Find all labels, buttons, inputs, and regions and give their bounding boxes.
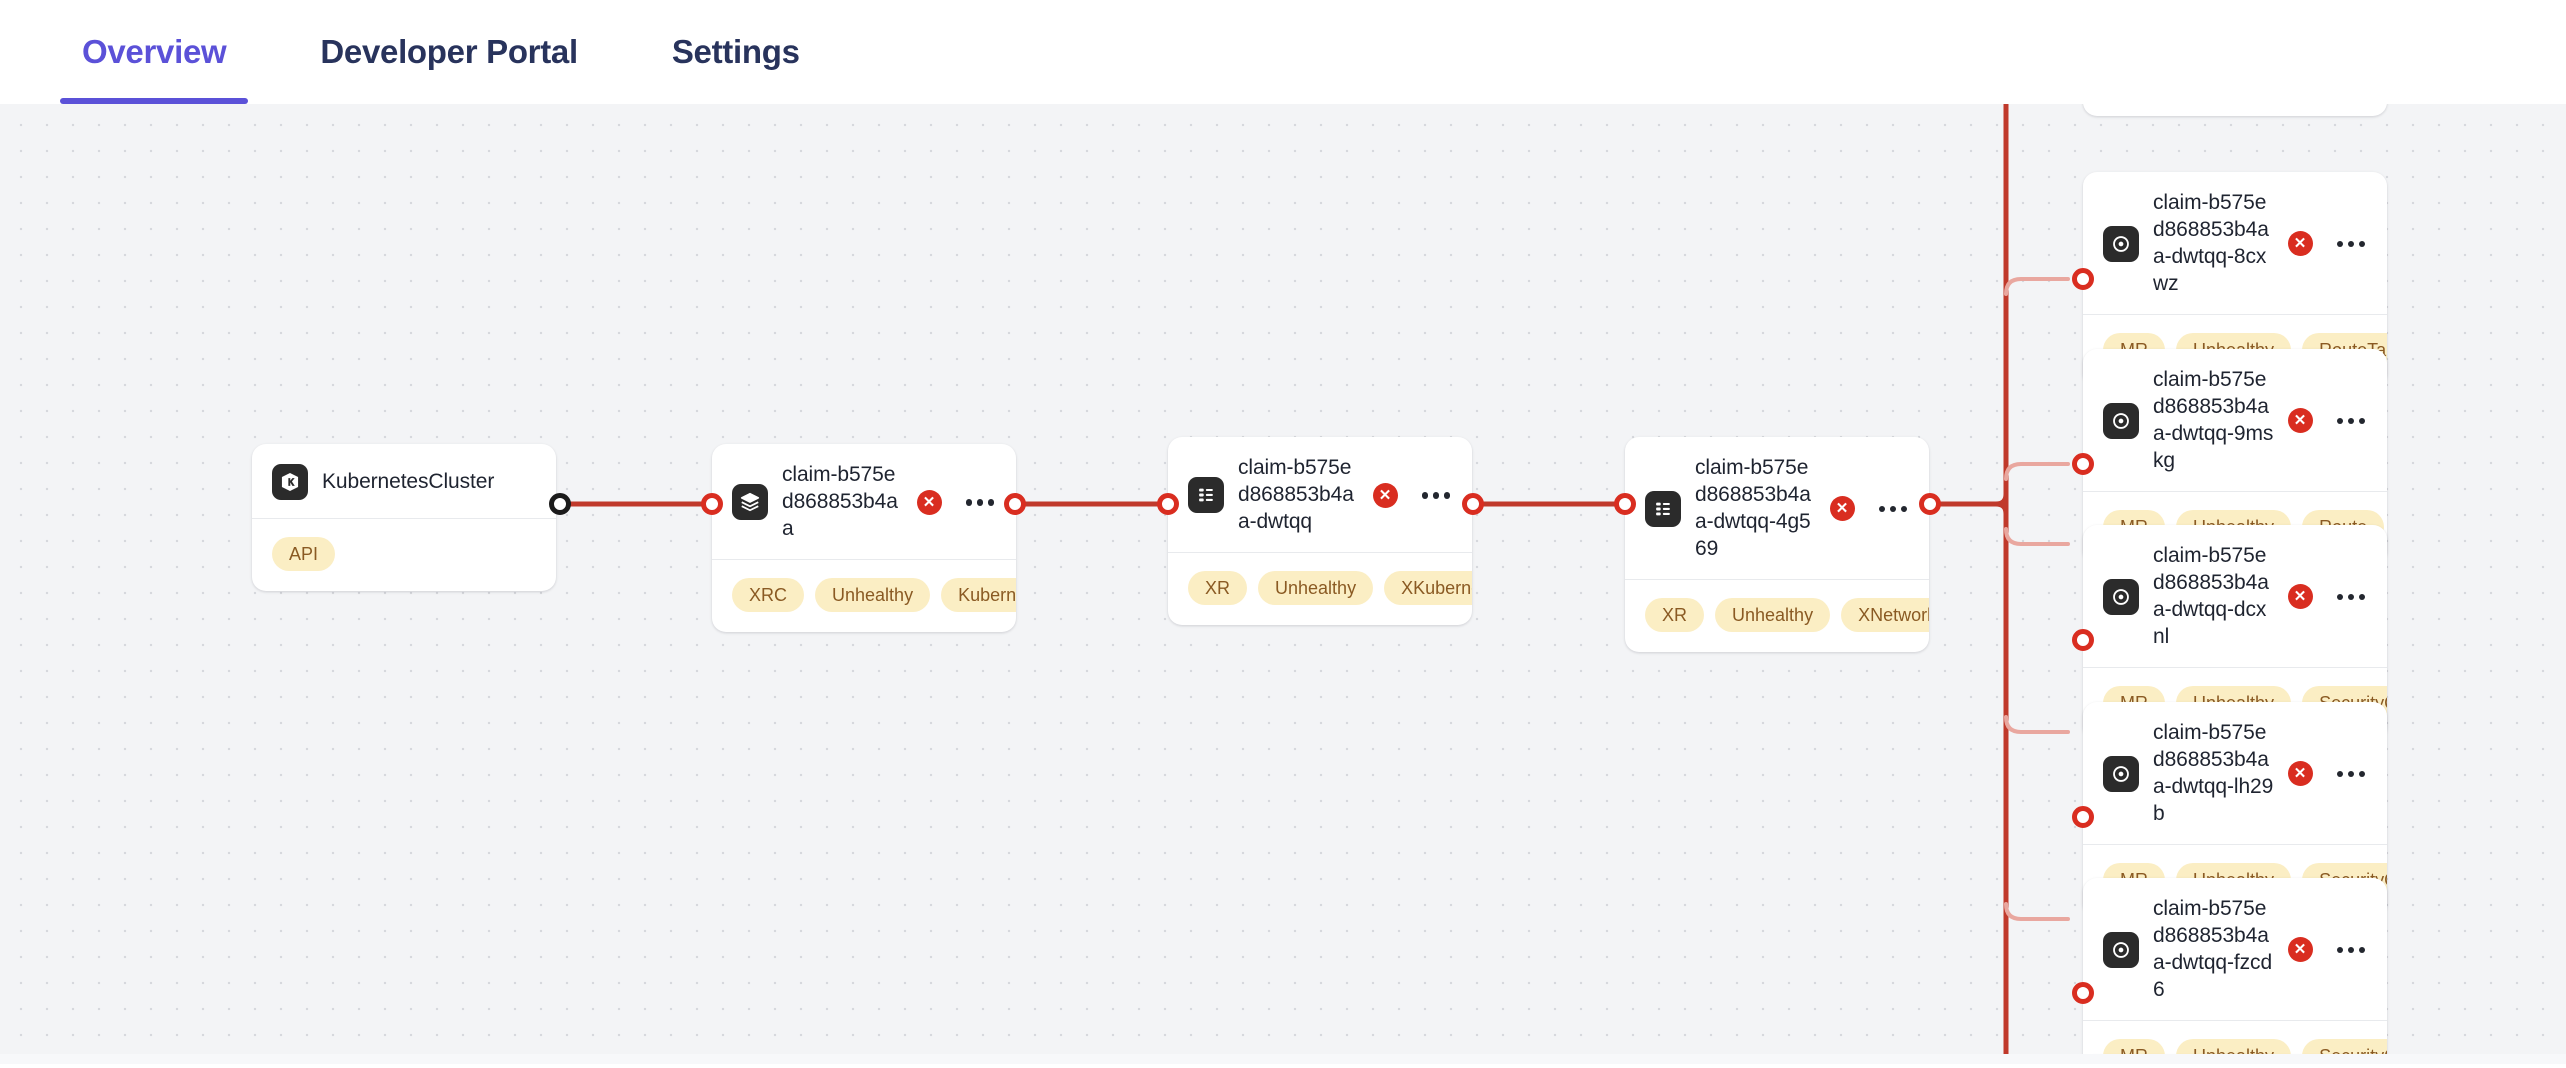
node-title: claim-b575ed868853b4aa-dwtqq-fzcd6 xyxy=(2153,896,2274,1004)
node-mr-fzcd6[interactable]: claim-b575ed868853b4aa-dwtqq-fzcd6 ✕ MR … xyxy=(2083,878,2387,1064)
graph-canvas[interactable]: KubernetesCluster API claim-b575ed868853… xyxy=(0,104,2566,1064)
status-badge-error[interactable]: ✕ xyxy=(1830,496,1855,521)
node-title: claim-b575ed868853b4aa-dwtqq-dcxnl xyxy=(2153,543,2274,651)
tab-settings-label: Settings xyxy=(672,33,800,71)
tag-kind: MR xyxy=(2103,1039,2165,1065)
handle-target-mr-lh29b[interactable] xyxy=(2072,806,2094,828)
target-icon xyxy=(2103,579,2139,615)
handle-target-mr-8cxwz[interactable] xyxy=(2072,268,2094,290)
tag-kind: XR xyxy=(1188,571,1247,605)
layers-icon xyxy=(732,484,768,520)
kubernetes-icon xyxy=(272,464,308,500)
tab-overview-label: Overview xyxy=(82,33,226,71)
tag-resource: XKubernetesCluster xyxy=(1384,571,1472,605)
node-tags: XR Unhealthy XNetwork xyxy=(1625,580,1929,652)
node-menu-button[interactable] xyxy=(2327,941,2368,960)
node-kubernetescluster[interactable]: KubernetesCluster API xyxy=(252,444,556,591)
handle-target-mr-9mskg[interactable] xyxy=(2072,453,2094,475)
tag-kind: API xyxy=(272,537,335,571)
tag-resource: SecurityGroup xyxy=(2302,1039,2387,1065)
node-claim-dwtqq-4g569[interactable]: claim-b575ed868853b4aa-dwtqq-4g569 ✕ XR … xyxy=(1625,437,1929,652)
node-header: claim-b575ed868853b4aa-dwtqq-fzcd6 ✕ xyxy=(2083,878,2387,1020)
node-tags: API xyxy=(252,519,556,591)
node-header: KubernetesCluster xyxy=(252,444,556,518)
node-header: claim-b575ed868853b4aa-dwtqq-9mskg ✕ xyxy=(2083,349,2387,491)
node-title: claim-b575ed868853b4aa xyxy=(782,462,903,543)
handle-target-claim-dwtqq-xr[interactable] xyxy=(1157,493,1179,515)
status-badge-error[interactable]: ✕ xyxy=(917,490,942,515)
node-menu-button[interactable] xyxy=(2327,235,2368,254)
node-title: KubernetesCluster xyxy=(322,469,536,496)
target-icon xyxy=(2103,756,2139,792)
handle-source-claim-xrc[interactable] xyxy=(1004,493,1026,515)
node-header xyxy=(2083,1055,2387,1064)
node-header: claim-b575ed868853b4aa-dwtqq-dcxnl ✕ xyxy=(2083,525,2387,667)
handle-target-mr-fzcd6[interactable] xyxy=(2072,982,2094,1004)
node-title: claim-b575ed868853b4aa-dwtqq xyxy=(1238,455,1359,536)
node-title: claim-b575ed868853b4aa-dwtqq-8cxwz xyxy=(2153,190,2274,298)
tab-settings[interactable]: Settings xyxy=(650,0,822,104)
target-icon xyxy=(2103,226,2139,262)
handle-target-claim-dwtqq-4g569[interactable] xyxy=(1614,493,1636,515)
node-tags: XRC Unhealthy KubernetesCluster xyxy=(712,560,1016,632)
node-claim-dwtqq-xr[interactable]: claim-b575ed868853b4aa-dwtqq ✕ XR Unheal… xyxy=(1168,437,1472,625)
node-tags: MR Unhealthy SecurityGroup xyxy=(2083,1021,2387,1065)
tag-kind: XRC xyxy=(732,578,804,612)
node-menu-button[interactable] xyxy=(1412,486,1453,505)
node-header: claim-b575ed868853b4aa-dwtqq-lh29b ✕ xyxy=(2083,702,2387,844)
tag-health: Unhealthy xyxy=(1258,571,1373,605)
list-icon xyxy=(1188,477,1224,513)
node-claim-xrc[interactable]: claim-b575ed868853b4aa ✕ XRC Unhealthy K… xyxy=(712,444,1016,632)
node-title: claim-b575ed868853b4aa-dwtqq-4g569 xyxy=(1695,455,1816,563)
node-menu-button[interactable] xyxy=(2327,765,2368,784)
handle-source-claim-dwtqq-4g569[interactable] xyxy=(1919,493,1941,515)
tab-developer-portal-label: Developer Portal xyxy=(320,33,577,71)
status-badge-error[interactable]: ✕ xyxy=(2288,761,2313,786)
status-badge-error[interactable]: ✕ xyxy=(1373,483,1398,508)
tag-resource: XNetwork xyxy=(1841,598,1929,632)
node-title: claim-b575ed868853b4aa-dwtqq-lh29b xyxy=(2153,720,2274,828)
node-header: claim-b575ed868853b4aa-dwtqq-8cxwz ✕ xyxy=(2083,172,2387,314)
handle-source-kubernetescluster[interactable] xyxy=(549,493,571,515)
node-header: claim-b575ed868853b4aa ✕ xyxy=(712,444,1016,559)
tag-health: Unhealthy xyxy=(815,578,930,612)
node-menu-button[interactable] xyxy=(1869,500,1910,519)
node-mr-clipped-bottom[interactable] xyxy=(2083,1055,2387,1064)
status-badge-error[interactable]: ✕ xyxy=(2288,584,2313,609)
tag-resource: KubernetesCluster xyxy=(941,578,1016,612)
target-icon xyxy=(2103,932,2139,968)
node-header: claim-b575ed868853b4aa-dwtqq ✕ xyxy=(1168,437,1472,552)
node-menu-button[interactable] xyxy=(2327,588,2368,607)
target-icon xyxy=(2103,403,2139,439)
handle-source-claim-dwtqq-xr[interactable] xyxy=(1462,493,1484,515)
list-icon xyxy=(1645,491,1681,527)
tab-overview[interactable]: Overview xyxy=(60,0,248,104)
status-badge-error[interactable]: ✕ xyxy=(2288,408,2313,433)
node-tags: XR Unhealthy XKubernetesCluster xyxy=(1168,553,1472,625)
node-title: claim-b575ed868853b4aa-dwtqq-9mskg xyxy=(2153,367,2274,475)
status-badge-error[interactable]: ✕ xyxy=(2288,937,2313,962)
tab-developer-portal[interactable]: Developer Portal xyxy=(298,0,599,104)
status-badge-error[interactable]: ✕ xyxy=(2288,231,2313,256)
node-menu-button[interactable] xyxy=(2327,412,2368,431)
tag-kind: XR xyxy=(1645,598,1704,632)
tag-health: Unhealthy xyxy=(1715,598,1830,632)
handle-target-mr-dcxnl[interactable] xyxy=(2072,629,2094,651)
tag-health: Unhealthy xyxy=(2176,1039,2291,1065)
node-header: claim-b575ed868853b4aa-dwtqq-4g569 ✕ xyxy=(1625,437,1929,579)
handle-target-claim-xrc[interactable] xyxy=(701,493,723,515)
node-menu-button[interactable] xyxy=(956,493,997,512)
node-mr-clipped-top[interactable] xyxy=(2083,104,2387,116)
main-tab-bar: Overview Developer Portal Settings xyxy=(0,0,2566,104)
